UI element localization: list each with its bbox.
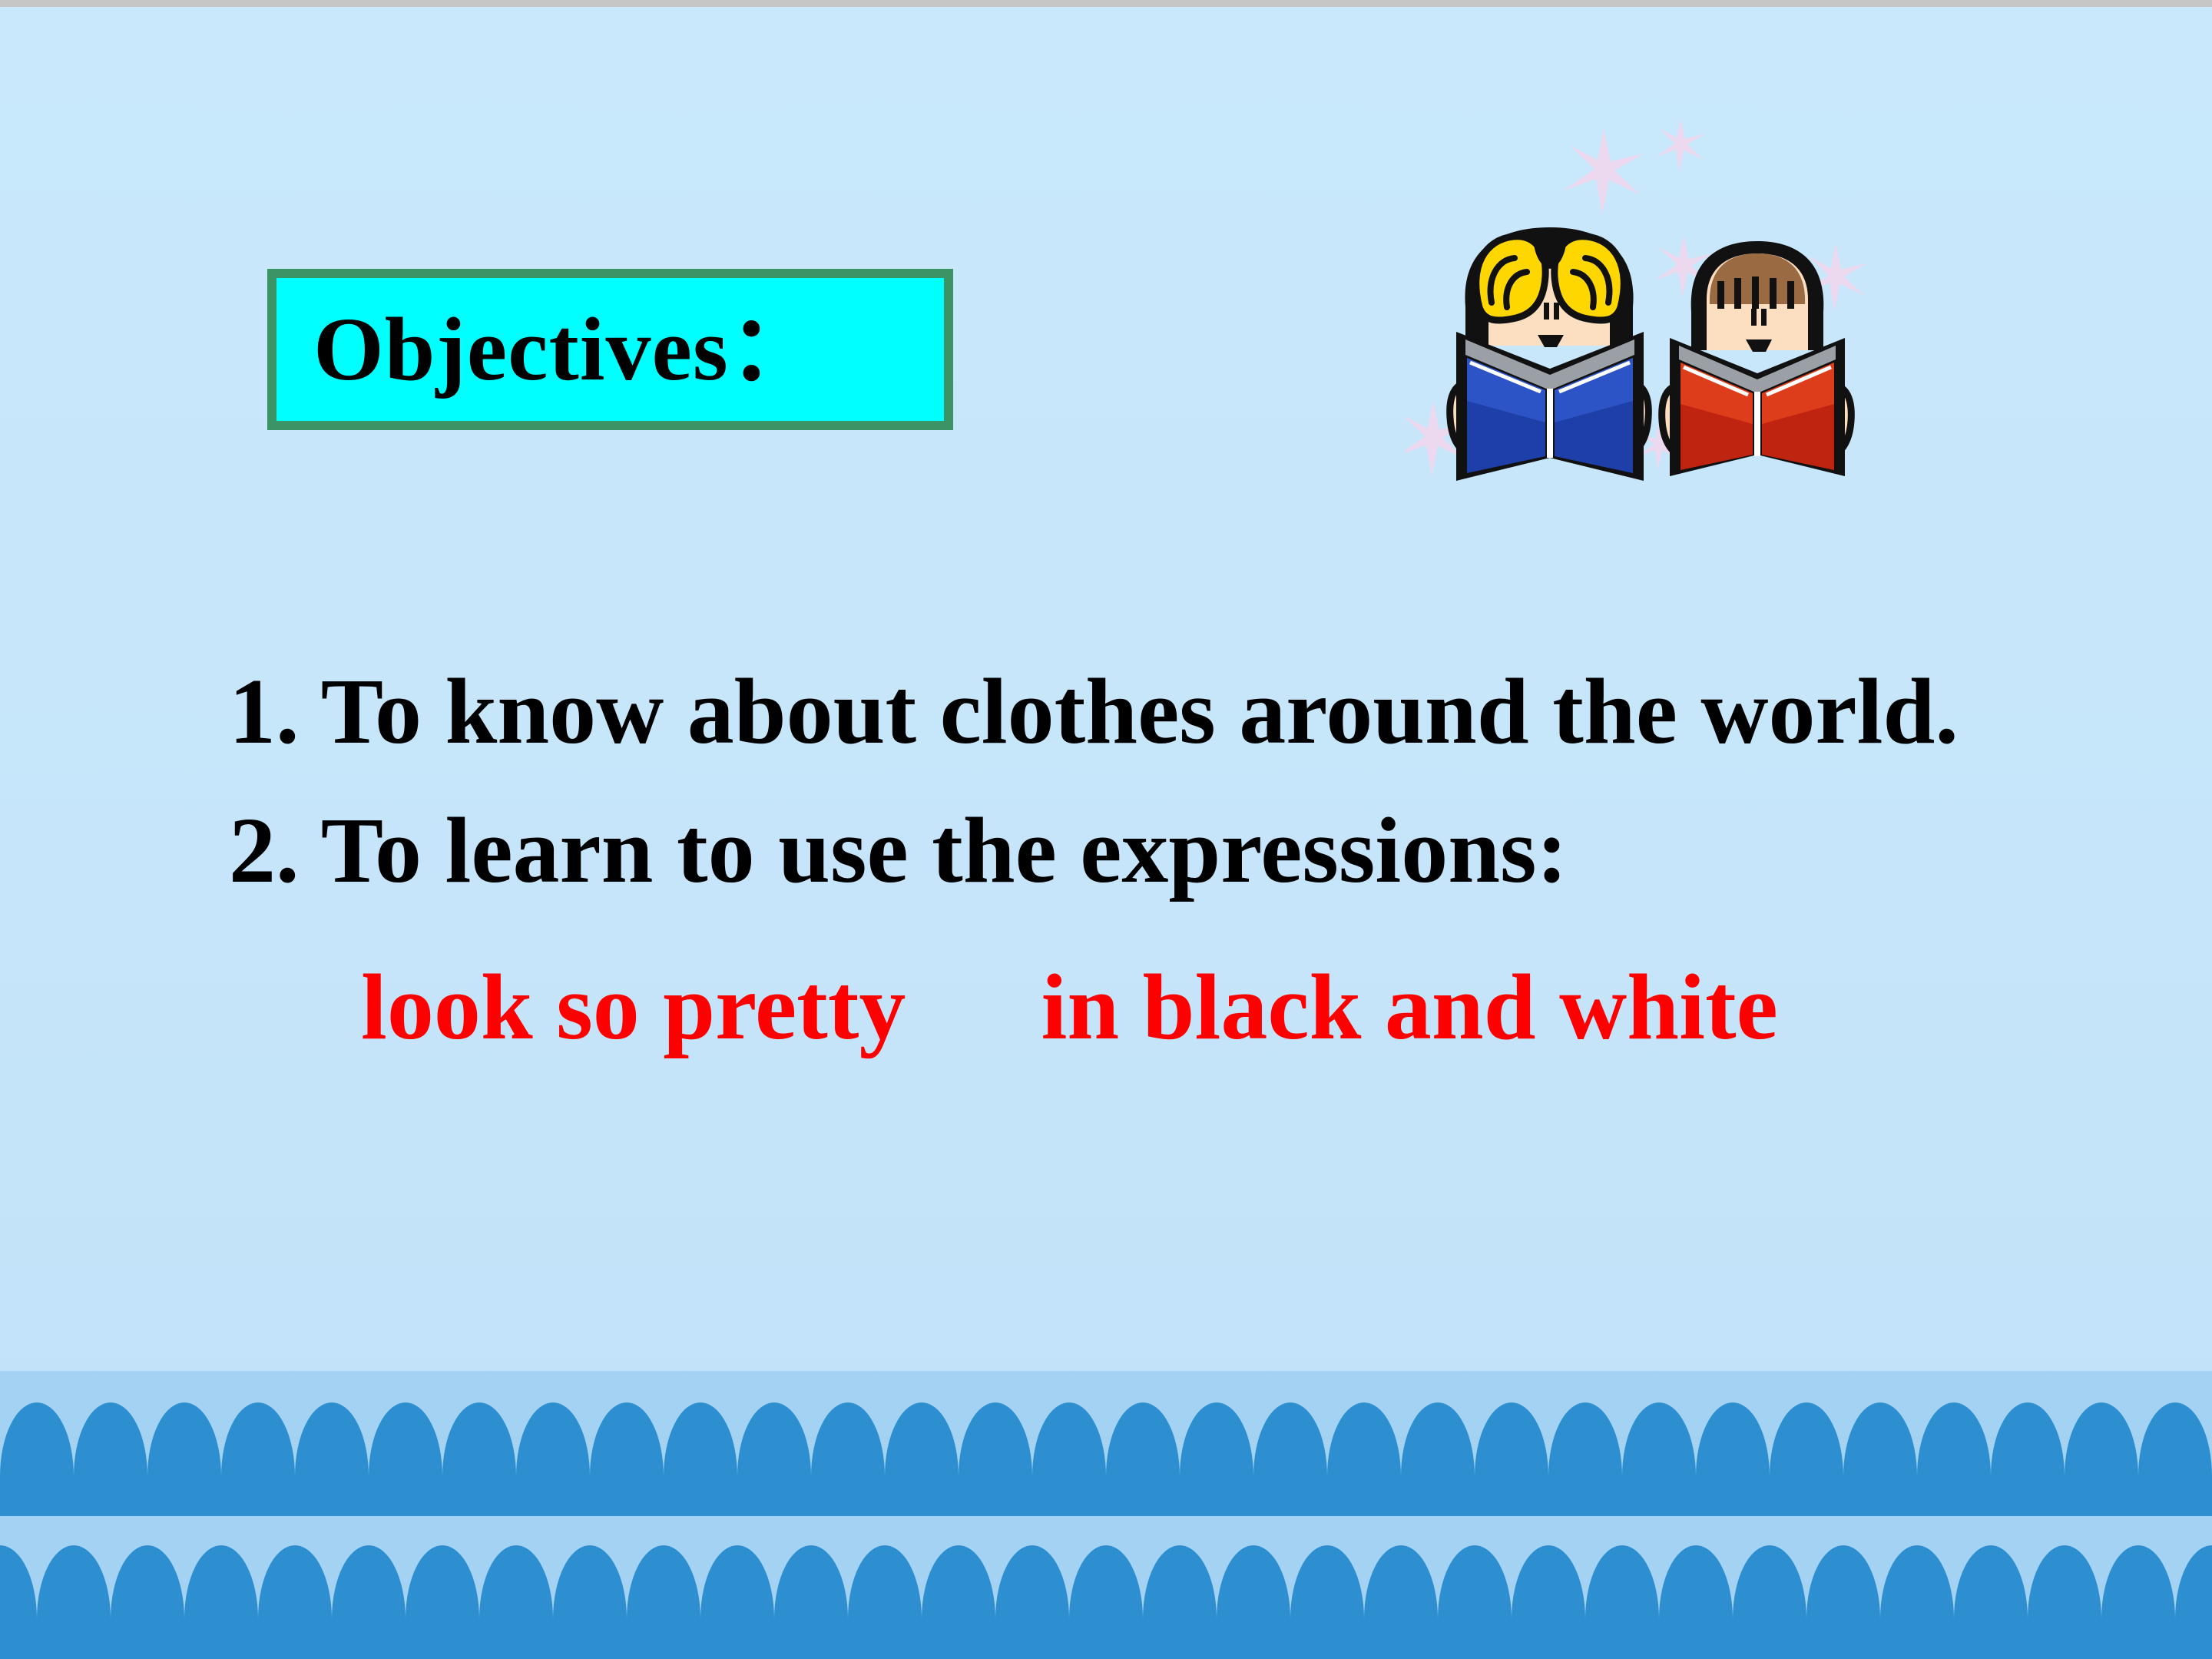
expression-in-black-and-white: in black and white: [1041, 949, 1777, 1067]
dome-shape: [774, 1545, 848, 1659]
dome-shape: [811, 1402, 885, 1516]
dome-shape: [627, 1545, 700, 1659]
dome-shape: [479, 1545, 553, 1659]
top-edge-strip: [0, 0, 2212, 7]
dome-shape: [995, 1545, 1069, 1659]
dome-shape: [2175, 1545, 2212, 1659]
objective-2-text: 2.: [229, 799, 300, 902]
dome-shape: [258, 1545, 332, 1659]
dome-shape: [1401, 1402, 1475, 1516]
objective-1-text: 1.: [229, 660, 300, 763]
dome-shape: [37, 1545, 111, 1659]
dome-shape: [1954, 1545, 2028, 1659]
dome-shape: [1548, 1402, 1622, 1516]
dome-shape: [922, 1545, 995, 1659]
dome-shape: [1733, 1545, 1806, 1659]
dome-shape: [1880, 1545, 1954, 1659]
dome-shape: [0, 1545, 37, 1659]
dome-shape: [1069, 1545, 1143, 1659]
dome-shape: [664, 1402, 737, 1516]
dome-shape: [1032, 1402, 1106, 1516]
objective-1-body: To know about clothes around the world.: [321, 660, 1959, 763]
dome-shape: [74, 1402, 147, 1516]
dome-shape: [0, 1402, 74, 1516]
dome-shape: [553, 1545, 627, 1659]
dome-shape: [1438, 1545, 1512, 1659]
objectives-list: 1. To know about clothes around the worl…: [229, 649, 2149, 1067]
dome-shape: [885, 1402, 959, 1516]
list-item: 2. To learn to use the expressions:: [229, 788, 2149, 915]
dome-shape: [2101, 1545, 2175, 1659]
boy-reading-figure: [1662, 241, 1852, 476]
dome-row-back: [0, 1371, 2212, 1516]
dome-shape: [1364, 1545, 1438, 1659]
dome-shape: [406, 1545, 479, 1659]
dome-shape: [1622, 1402, 1696, 1516]
dome-shape: [1696, 1402, 1770, 1516]
dome-shape: [516, 1402, 590, 1516]
dome-shape: [1659, 1545, 1733, 1659]
dome-shape: [848, 1545, 922, 1659]
dome-shape: [442, 1402, 516, 1516]
dome-row-front: [0, 1513, 2212, 1659]
dome-shape: [1843, 1402, 1917, 1516]
bottom-decorative-band: [0, 1371, 2212, 1659]
dome-shape: [332, 1545, 406, 1659]
dome-shape: [1475, 1402, 1548, 1516]
dome-shape: [2138, 1402, 2212, 1516]
dome-shape: [1143, 1545, 1217, 1659]
dome-shape: [111, 1545, 184, 1659]
dome-shape: [700, 1545, 774, 1659]
dome-shape: [959, 1402, 1032, 1516]
dome-shape: [590, 1402, 664, 1516]
dome-shape: [1991, 1402, 2065, 1516]
dome-shape: [1512, 1545, 1585, 1659]
list-item: 1. To know about clothes around the worl…: [229, 649, 2149, 776]
dome-shape: [184, 1545, 258, 1659]
expression-look-so-pretty: look so pretty: [361, 949, 906, 1067]
dome-shape: [1290, 1545, 1364, 1659]
dome-shape: [2065, 1402, 2138, 1516]
expressions-row: look so pretty in black and white: [229, 949, 2149, 1067]
objective-2-body: To learn to use the expressions:: [321, 799, 1568, 902]
girl-reading-figure: [1450, 227, 1649, 481]
dome-shape: [295, 1402, 369, 1516]
dome-shape: [147, 1402, 221, 1516]
dome-shape: [1217, 1545, 1290, 1659]
dome-shape: [1917, 1402, 1991, 1516]
dome-shape: [737, 1402, 811, 1516]
dome-shape: [1180, 1402, 1253, 1516]
dome-shape: [1770, 1402, 1843, 1516]
dome-shape: [221, 1402, 295, 1516]
dome-shape: [1585, 1545, 1659, 1659]
reading-children-clipart: [1406, 115, 1882, 484]
dome-shape: [1327, 1402, 1401, 1516]
dome-shape: [1253, 1402, 1327, 1516]
objectives-title-box: Objectives：: [267, 269, 953, 430]
dome-shape: [1806, 1545, 1880, 1659]
dome-shape: [369, 1402, 442, 1516]
objectives-title-label: Objectives：: [313, 304, 820, 395]
dome-shape: [1106, 1402, 1180, 1516]
dome-shape: [2028, 1545, 2101, 1659]
slide-canvas: Objectives：: [0, 0, 2212, 1659]
